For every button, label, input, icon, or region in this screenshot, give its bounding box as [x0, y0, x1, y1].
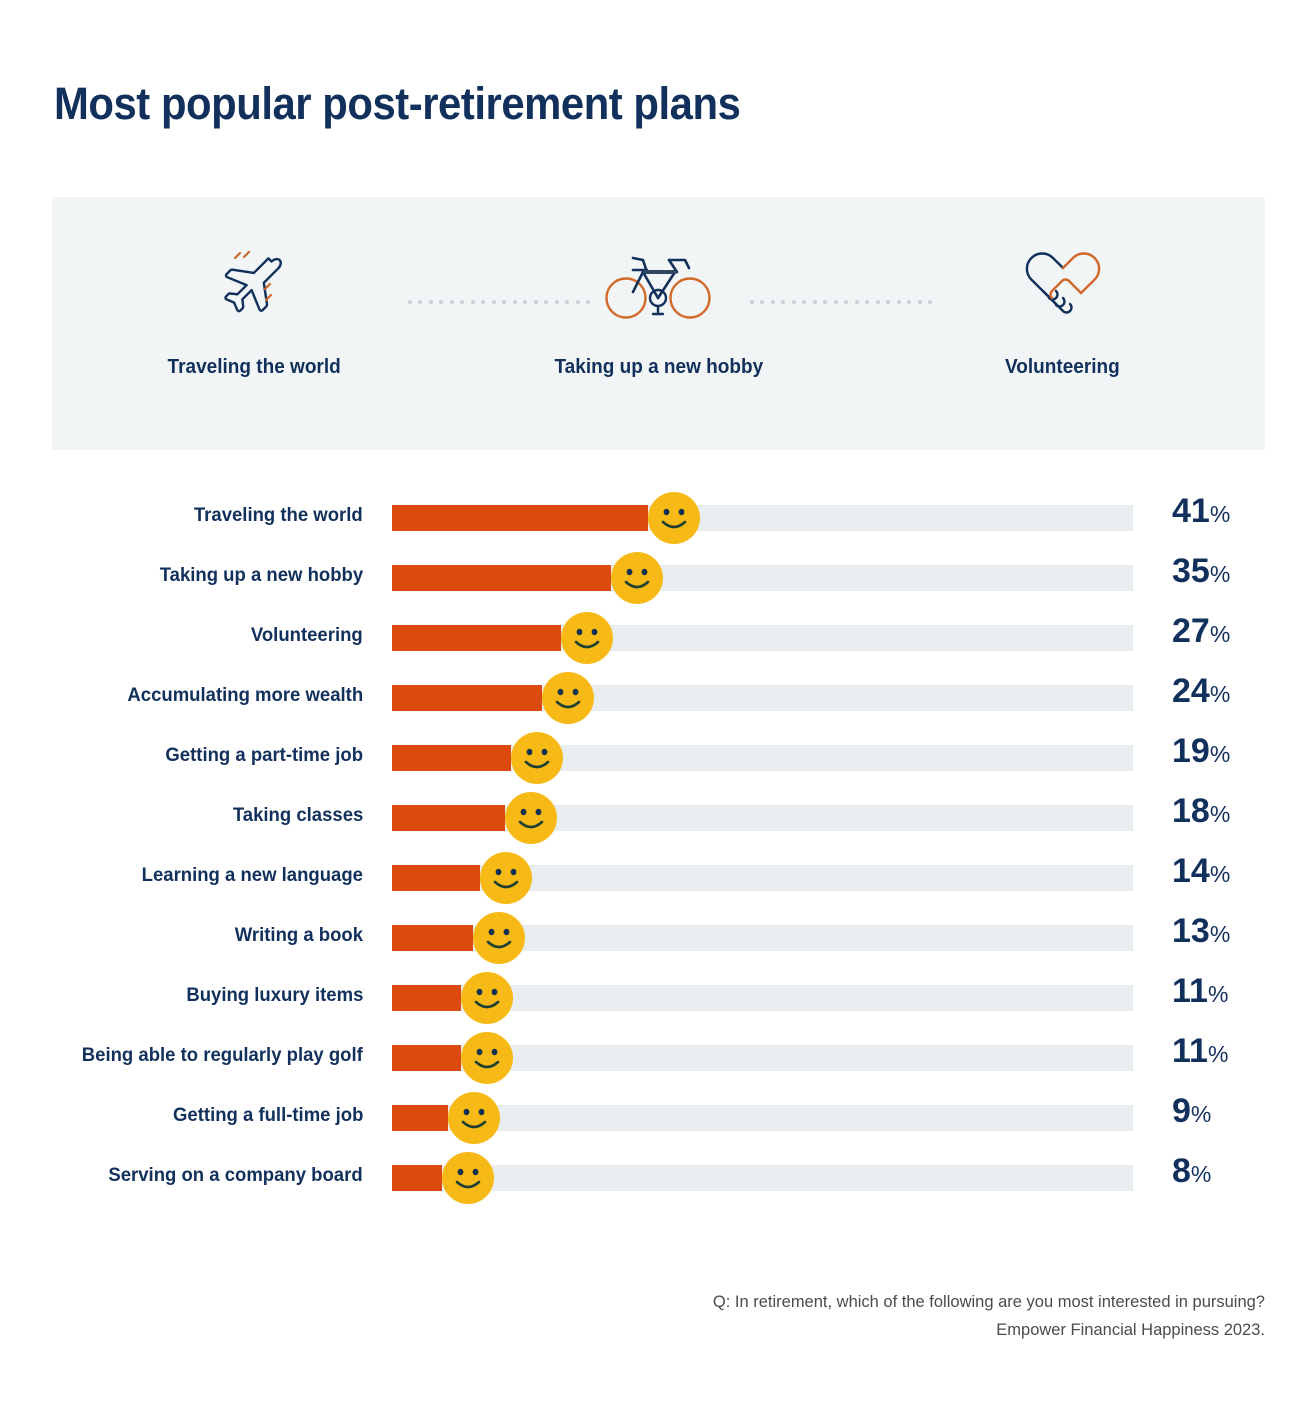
bar-fill — [392, 685, 542, 711]
bar-category-label: Getting a full-time job — [173, 1097, 363, 1134]
connector-dot — [450, 300, 454, 304]
bar-fill — [392, 805, 505, 831]
connector-dot — [534, 300, 538, 304]
bar-category-label: Getting a part-time job — [165, 737, 363, 774]
smiley-marker-icon — [461, 972, 513, 1024]
connector-dot — [760, 300, 764, 304]
connector-dot — [750, 300, 754, 304]
bar-category-label: Writing a book — [235, 917, 363, 954]
bar-value-label: 18% — [1172, 792, 1230, 831]
chart-row: Taking classes18% — [0, 797, 1313, 857]
connector-dot — [928, 300, 932, 304]
highlight-label: Traveling the world — [168, 356, 341, 379]
percent-sign: % — [1208, 981, 1228, 1007]
connector-dot — [586, 300, 590, 304]
bar-fill — [392, 565, 611, 591]
bar-value-label: 13% — [1172, 912, 1230, 951]
connector-dot — [771, 300, 775, 304]
percent-sign: % — [1210, 861, 1230, 887]
connector-dot — [781, 300, 785, 304]
chart-row: Getting a full-time job9% — [0, 1097, 1313, 1157]
highlight-item-volunteering[interactable]: Volunteering — [913, 197, 1213, 379]
bar-value-label: 11% — [1172, 1032, 1228, 1071]
bar-value-label: 11% — [1172, 972, 1228, 1011]
percent-sign: % — [1210, 801, 1230, 827]
bar-value-number: 13 — [1172, 912, 1210, 950]
smiley-marker-icon — [473, 912, 525, 964]
smiley-marker-icon — [480, 852, 532, 904]
bar-track — [392, 505, 1133, 531]
bar-value-number: 8 — [1172, 1152, 1191, 1190]
connector-dot — [565, 300, 569, 304]
bar-value-label: 8% — [1172, 1152, 1211, 1191]
connector-dot — [481, 300, 485, 304]
connector-dot — [576, 300, 580, 304]
smiley-marker-icon — [448, 1092, 500, 1144]
percent-sign: % — [1191, 1161, 1211, 1187]
bar-value-number: 27 — [1172, 612, 1210, 650]
bar-value-number: 14 — [1172, 852, 1210, 890]
connector-dot — [471, 300, 475, 304]
dotted-connector-2 — [750, 299, 932, 305]
bar-track — [392, 685, 1133, 711]
connector-dot — [439, 300, 443, 304]
chart-row: Traveling the world41% — [0, 497, 1313, 557]
percent-sign: % — [1210, 561, 1230, 587]
connector-dot — [886, 300, 890, 304]
bar-fill — [392, 505, 648, 531]
connector-dot — [429, 300, 433, 304]
bar-category-label: Being able to regularly play golf — [82, 1037, 363, 1074]
percent-sign: % — [1210, 501, 1230, 527]
bar-fill — [392, 985, 461, 1011]
bar-track — [392, 625, 1133, 651]
chart-row: Writing a book13% — [0, 917, 1313, 977]
chart-row: Volunteering27% — [0, 617, 1313, 677]
bar-track — [392, 1165, 1133, 1191]
chart-row: Taking up a new hobby35% — [0, 557, 1313, 617]
bar-category-label: Taking up a new hobby — [160, 557, 363, 594]
bar-category-label: Traveling the world — [194, 497, 363, 534]
percent-sign: % — [1191, 1101, 1211, 1127]
bar-track — [392, 865, 1133, 891]
bar-track — [392, 565, 1133, 591]
percent-sign: % — [1210, 621, 1230, 647]
connector-dot — [408, 300, 412, 304]
connector-dot — [502, 300, 506, 304]
chart-row: Being able to regularly play golf11% — [0, 1037, 1313, 1097]
smiley-marker-icon — [461, 1032, 513, 1084]
percent-sign: % — [1210, 741, 1230, 767]
connector-dot — [834, 300, 838, 304]
bar-chart: Traveling the world41%Taking up a new ho… — [0, 497, 1313, 1217]
smiley-marker-icon — [648, 492, 700, 544]
bar-value-number: 24 — [1172, 672, 1210, 710]
bar-value-label: 9% — [1172, 1092, 1211, 1131]
connector-dot — [802, 300, 806, 304]
bar-track — [392, 985, 1133, 1011]
highlight-panel: Traveling the world — [52, 197, 1265, 450]
smiley-marker-icon — [542, 672, 594, 724]
bar-fill — [392, 625, 561, 651]
bar-fill — [392, 1045, 461, 1071]
connector-dot — [907, 300, 911, 304]
bar-value-number: 35 — [1172, 552, 1210, 590]
footnote-question: Q: In retirement, which of the following… — [713, 1288, 1265, 1316]
connector-dot — [555, 300, 559, 304]
bar-value-number: 41 — [1172, 492, 1210, 530]
connector-dot — [460, 300, 464, 304]
connector-dot — [418, 300, 422, 304]
bar-category-label: Volunteering — [251, 617, 363, 654]
bar-value-label: 19% — [1172, 732, 1230, 771]
connector-dot — [918, 300, 922, 304]
bar-category-label: Taking classes — [233, 797, 363, 834]
highlight-label: Taking up a new hobby — [554, 356, 763, 379]
highlight-item-hobby[interactable]: Taking up a new hobby — [508, 197, 808, 379]
chart-row: Getting a part-time job19% — [0, 737, 1313, 797]
bar-category-label: Serving on a company board — [109, 1157, 363, 1194]
connector-dot — [823, 300, 827, 304]
page-title: Most popular post-retirement plans — [54, 78, 740, 130]
smiley-marker-icon — [561, 612, 613, 664]
chart-row: Learning a new language14% — [0, 857, 1313, 917]
connector-dot — [544, 300, 548, 304]
connector-dot — [523, 300, 527, 304]
bar-value-label: 41% — [1172, 492, 1230, 531]
chart-row: Buying luxury items11% — [0, 977, 1313, 1037]
bar-value-label: 35% — [1172, 552, 1230, 591]
bar-fill — [392, 745, 511, 771]
bar-value-number: 9 — [1172, 1092, 1191, 1130]
bar-value-number: 11 — [1172, 972, 1208, 1010]
bar-fill — [392, 925, 473, 951]
percent-sign: % — [1210, 681, 1230, 707]
handshake-icon — [1017, 242, 1109, 330]
footnote: Q: In retirement, which of the following… — [713, 1288, 1265, 1344]
connector-dot — [897, 300, 901, 304]
highlight-label: Volunteering — [1005, 356, 1120, 379]
connector-dot — [513, 300, 517, 304]
connector-dot — [844, 300, 848, 304]
bar-track — [392, 745, 1133, 771]
smiley-marker-icon — [511, 732, 563, 784]
airplane-icon — [211, 242, 297, 330]
bicycle-icon — [603, 242, 713, 330]
bar-value-label: 24% — [1172, 672, 1230, 711]
smiley-marker-icon — [611, 552, 663, 604]
percent-sign: % — [1208, 1041, 1228, 1067]
dotted-connector-1 — [408, 299, 590, 305]
bar-track — [392, 925, 1133, 951]
bar-category-label: Buying luxury items — [186, 977, 363, 1014]
bar-value-label: 27% — [1172, 612, 1230, 651]
connector-dot — [792, 300, 796, 304]
bar-category-label: Accumulating more wealth — [127, 677, 363, 714]
bar-track — [392, 805, 1133, 831]
chart-row: Serving on a company board8% — [0, 1157, 1313, 1217]
chart-row: Accumulating more wealth24% — [0, 677, 1313, 737]
connector-dot — [865, 300, 869, 304]
highlight-items: Traveling the world — [52, 197, 1265, 450]
connector-dot — [492, 300, 496, 304]
highlight-item-traveling[interactable]: Traveling the world — [104, 197, 404, 379]
connector-dot — [813, 300, 817, 304]
connector-dot — [855, 300, 859, 304]
bar-category-label: Learning a new language — [142, 857, 363, 894]
smiley-marker-icon — [505, 792, 557, 844]
percent-sign: % — [1210, 921, 1230, 947]
bar-value-label: 14% — [1172, 852, 1230, 891]
bar-track — [392, 1105, 1133, 1131]
bar-fill — [392, 865, 480, 891]
bar-value-number: 11 — [1172, 1032, 1208, 1070]
connector-dot — [876, 300, 880, 304]
bar-track — [392, 1045, 1133, 1071]
bar-value-number: 18 — [1172, 792, 1210, 830]
bar-fill — [392, 1105, 448, 1131]
bar-fill — [392, 1165, 442, 1191]
footnote-source: Empower Financial Happiness 2023. — [713, 1316, 1265, 1344]
bar-value-number: 19 — [1172, 732, 1210, 770]
smiley-marker-icon — [442, 1152, 494, 1204]
